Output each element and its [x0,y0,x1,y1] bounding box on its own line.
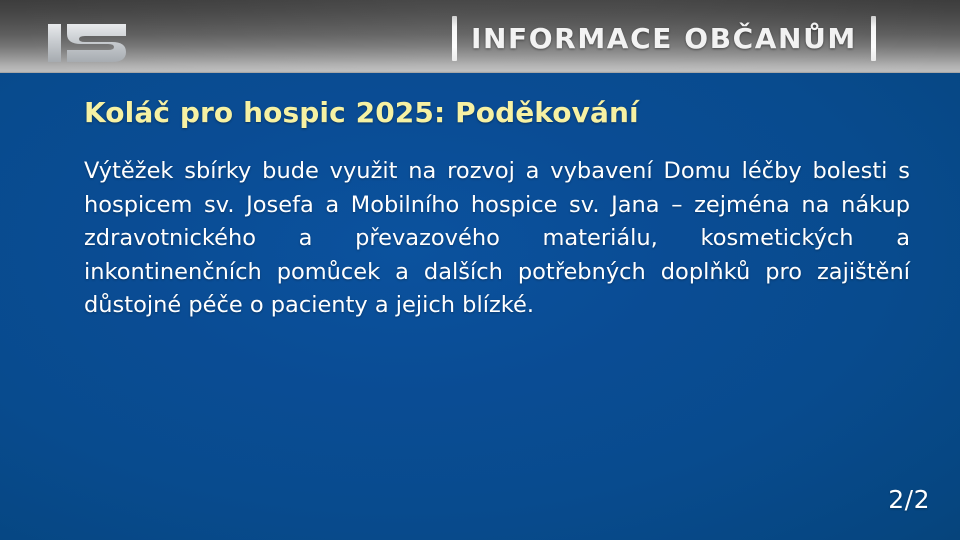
page-number-indicator: 2/2 [888,485,930,514]
slide-header-bar: INFORMACE OBČANŮM [0,0,960,73]
header-bottom-divider [0,71,960,73]
header-title: INFORMACE OBČANŮM [471,25,857,53]
header-title-group: INFORMACE OBČANŮM [452,14,876,62]
slide-body-paragraph: Výtěžek sbírky bude využit na rozvoj a v… [84,155,910,323]
left-vertical-bar-icon [452,16,457,61]
right-vertical-bar-icon [871,16,876,61]
slide-title: Koláč pro hospic 2025: Poděkování [84,96,884,130]
is-monogram-logo-icon [46,22,128,64]
slide-canvas: INFORMACE OBČANŮM Koláč pro hospic 2025:… [0,0,960,540]
slide-body-text: Výtěžek sbírky bude využit na rozvoj a v… [84,155,910,323]
